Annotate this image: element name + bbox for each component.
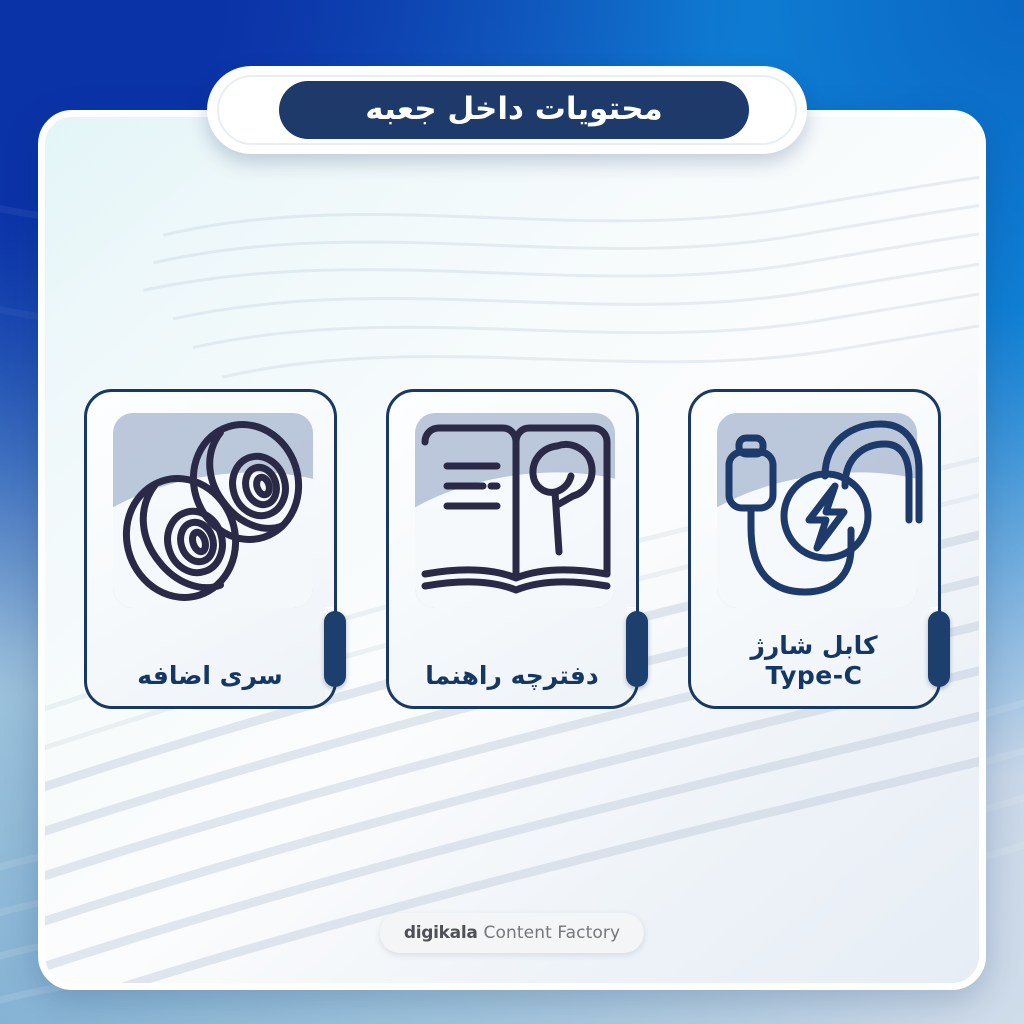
brand-suffix: Content Factory — [484, 923, 621, 943]
card-label-fa: سری اضافه — [87, 661, 334, 691]
charging-cable-icon — [713, 408, 923, 613]
card-user-manual[interactable]: دفترچه راهنما — [386, 389, 639, 709]
card-label-fa: دفترچه راهنما — [389, 661, 636, 691]
card-frame: کابل شارژ Type-C — [688, 389, 941, 709]
extra-eartips-icon — [109, 408, 319, 613]
page-title: محتویات داخل جعبه — [365, 91, 662, 127]
card-accent-pill — [928, 611, 950, 687]
card-label-en: Type-C — [691, 661, 938, 691]
card-charging-cable[interactable]: کابل شارژ Type-C — [688, 389, 941, 709]
footer-brand-badge: digikala Content Factory — [380, 913, 644, 953]
title-pill-outer: محتویات داخل جعبه — [207, 66, 807, 154]
card-accent-pill — [626, 611, 648, 687]
card-label: کابل شارژ Type-C — [691, 631, 938, 690]
card-label: دفترچه راهنما — [389, 661, 636, 691]
contents-card-row: کابل شارژ Type-C — [45, 389, 979, 709]
card-extra-eartips[interactable]: سری اضافه — [84, 389, 337, 709]
card-frame: دفترچه راهنما — [386, 389, 639, 709]
card-frame: سری اضافه — [84, 389, 337, 709]
title-pill-inner: محتویات داخل جعبه — [279, 81, 749, 139]
brand-name: digikala — [404, 923, 478, 943]
manual-book-wrench-icon — [411, 408, 621, 613]
card-label: سری اضافه — [87, 661, 334, 691]
content-panel: کابل شارژ Type-C — [38, 110, 986, 990]
card-label-fa: کابل شارژ — [691, 631, 938, 661]
poster-canvas: کابل شارژ Type-C — [0, 0, 1024, 1024]
card-accent-pill — [324, 611, 346, 687]
